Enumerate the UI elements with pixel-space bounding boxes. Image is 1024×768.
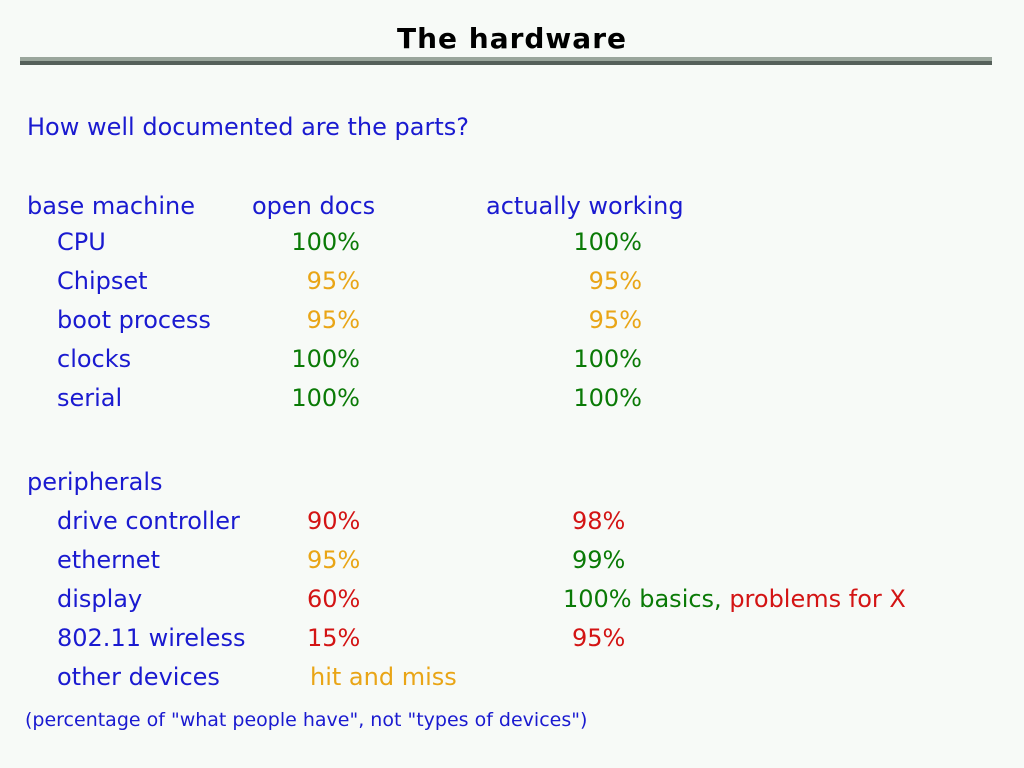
- row-open-docs-value: 90%: [307, 507, 360, 535]
- row-open-docs-value: 15%: [307, 624, 360, 652]
- row-actually-working-value-wrap: 100% basics, problems for X: [563, 585, 906, 613]
- row-actually-working-value: 98%: [572, 507, 625, 535]
- row-label: serial: [57, 384, 122, 412]
- row-actually-working-value: 99%: [572, 546, 625, 574]
- row-actually-working-value: 100%: [573, 345, 642, 373]
- row-actually-working-value: 95%: [589, 267, 642, 295]
- row-open-docs-value: 95%: [307, 306, 360, 334]
- row-open-docs-value: 100%: [291, 228, 360, 256]
- row-open-docs-value: hit and miss: [310, 663, 457, 691]
- row-label: drive controller: [57, 507, 240, 535]
- row-actually-working-value: 95%: [572, 624, 625, 652]
- row-label: boot process: [57, 306, 211, 334]
- row-open-docs-value: 100%: [291, 384, 360, 412]
- table-row: boot process 95% 95%: [0, 306, 1024, 338]
- row-label: Chipset: [57, 267, 148, 295]
- footnote: (percentage of "what people have", not "…: [25, 709, 587, 731]
- row-actually-working-value: 100%: [573, 384, 642, 412]
- slide-content: How well documented are the parts? base …: [0, 0, 1024, 768]
- column-header-row: base machine open docs actually working: [0, 192, 1024, 222]
- column-header-open-docs: open docs: [252, 192, 375, 220]
- row-label: other devices: [57, 663, 220, 691]
- row-open-docs-value: 100%: [291, 345, 360, 373]
- row-actually-working-value: 100% basics,: [563, 585, 722, 613]
- table-row: serial 100% 100%: [0, 384, 1024, 416]
- row-label: ethernet: [57, 546, 160, 574]
- table-row: 802.11 wireless 15% 95%: [0, 624, 1024, 656]
- question-line: How well documented are the parts?: [27, 113, 469, 141]
- row-label: 802.11 wireless: [57, 624, 245, 652]
- row-actually-working-value: 95%: [589, 306, 642, 334]
- row-open-docs-value: 95%: [307, 267, 360, 295]
- table-row: other devices hit and miss: [0, 663, 1024, 695]
- row-label: clocks: [57, 345, 131, 373]
- table-row: ethernet 95% 99%: [0, 546, 1024, 578]
- group-heading-peripherals: peripherals: [27, 468, 163, 496]
- row-open-docs-value: 60%: [307, 585, 360, 613]
- row-actually-working-note: problems for X: [722, 585, 906, 613]
- row-open-docs-value: 95%: [307, 546, 360, 574]
- row-label: display: [57, 585, 142, 613]
- column-header-group: base machine: [27, 192, 195, 220]
- row-actually-working-value: 100%: [573, 228, 642, 256]
- table-row: drive controller 90% 98%: [0, 507, 1024, 539]
- table-row: Chipset 95% 95%: [0, 267, 1024, 299]
- column-header-actually-working: actually working: [486, 192, 684, 220]
- row-label: CPU: [57, 228, 106, 256]
- table-row: clocks 100% 100%: [0, 345, 1024, 377]
- table-row: display 60% 100% basics, problems for X: [0, 585, 1024, 617]
- table-row: CPU 100% 100%: [0, 228, 1024, 260]
